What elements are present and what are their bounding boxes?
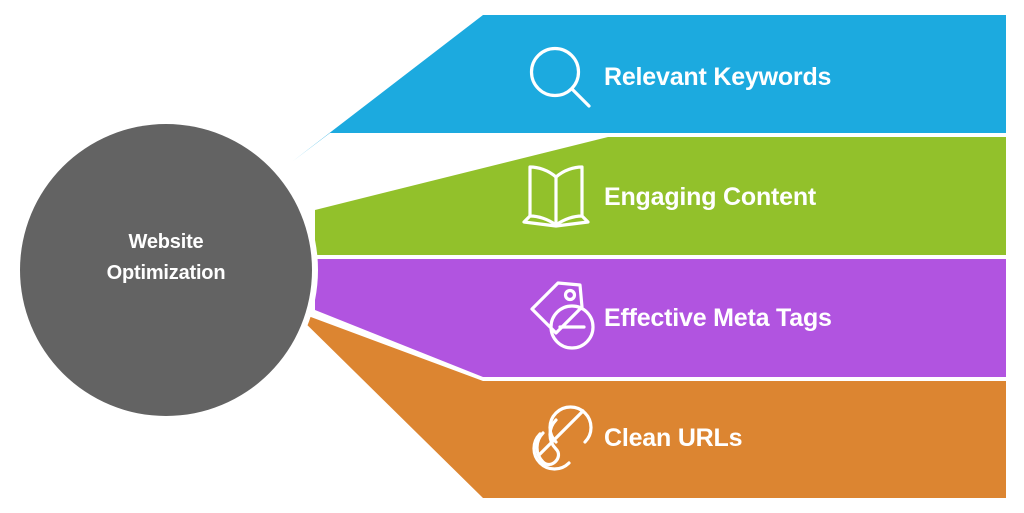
band-label-engaging-content: Engaging Content [604,183,817,211]
hub-label-line1: Website [129,231,204,253]
band-label-clean-urls: Clean URLs [604,424,742,452]
website-optimization-infographic: Relevant Keywords Engaging Content [0,0,1024,513]
band-engaging-content[interactable]: Engaging Content [315,137,1006,255]
hub-label-line2: Optimization [107,262,226,284]
band-label-effective-meta-tags: Effective Meta Tags [604,304,832,332]
website-optimization-hub[interactable]: Website Optimization [14,118,318,422]
band-label-relevant-keywords: Relevant Keywords [604,63,831,91]
